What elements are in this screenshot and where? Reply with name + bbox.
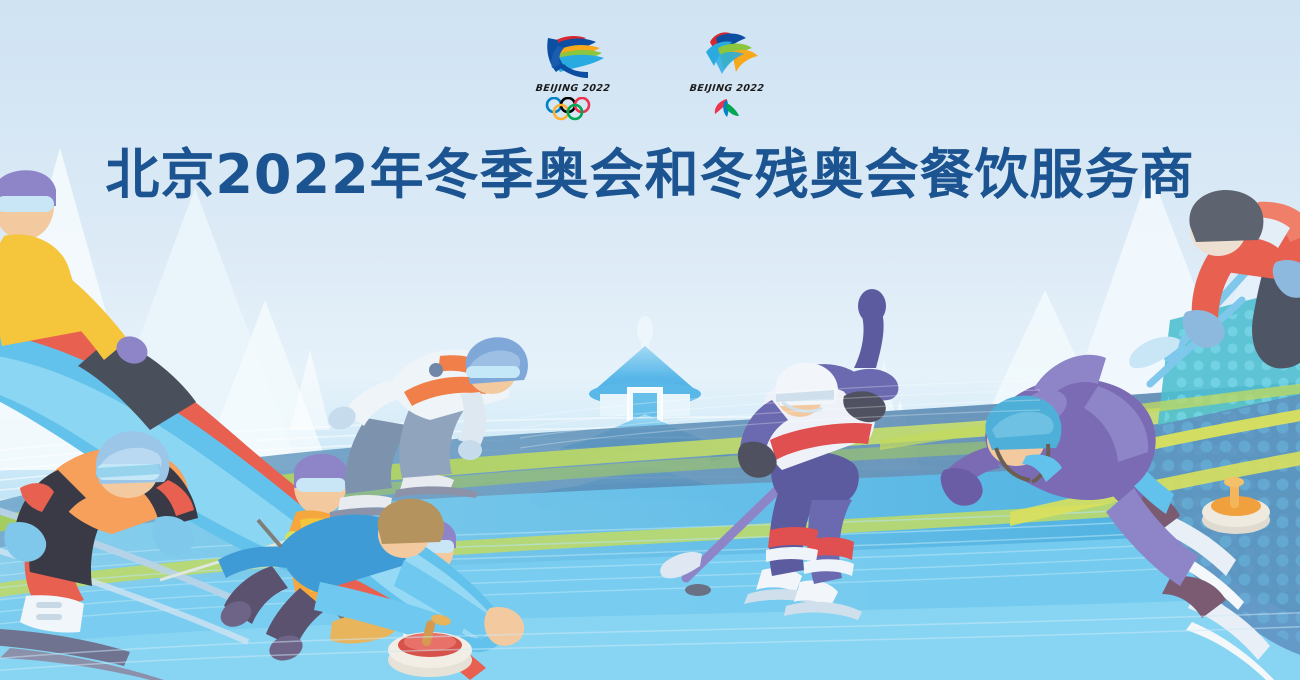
agitos-icon	[679, 97, 775, 119]
olympic-emblem: BEIJING 2022	[525, 28, 621, 121]
paralympic-wordmark: BEIJING 2022	[678, 83, 775, 94]
paralympic-emblem: BEIJING 2022	[679, 28, 775, 119]
emblem-row: BEIJING 2022	[0, 28, 1300, 121]
olympic-rings-icon	[525, 97, 621, 121]
olympic-banner: BEIJING 2022	[0, 0, 1300, 680]
flying-high-emblem-icon	[679, 28, 775, 80]
olympic-wordmark: BEIJING 2022	[524, 83, 621, 94]
page-title: 北京2022年冬季奥会和冬残奥会餐饮服务商	[0, 146, 1300, 204]
winter-dream-emblem-icon	[525, 28, 621, 80]
